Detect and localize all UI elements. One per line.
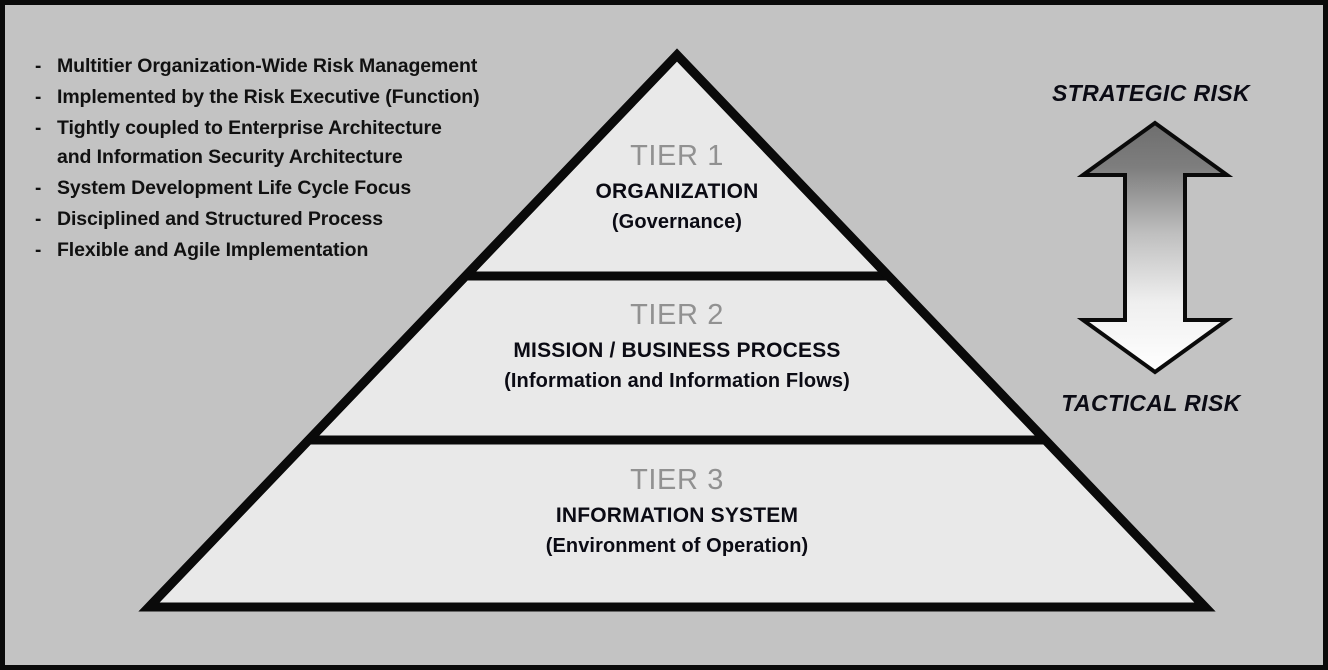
strategic-risk-label: STRATEGIC RISK [986, 80, 1316, 107]
risk-management-tier-diagram: - Multitier Organization-Wide Risk Manag… [0, 0, 1328, 670]
bullet-marker: - [35, 205, 57, 234]
list-item-label: Tightly coupled to Enterprise Architectu… [57, 114, 442, 172]
list-item-label: Multitier Organization-Wide Risk Managem… [57, 52, 477, 81]
tier-1-name: ORGANIZATION [417, 177, 937, 207]
list-item: - Flexible and Agile Implementation [35, 236, 595, 265]
tier-2-subtitle: (Information and Information Flows) [417, 366, 937, 396]
arrow-shape [1083, 123, 1227, 372]
tier-1-heading: TIER 1 [417, 138, 937, 174]
tier-3-labels: TIER 3 INFORMATION SYSTEM (Environment o… [417, 462, 937, 561]
tactical-risk-label: TACTICAL RISK [986, 390, 1316, 417]
tier-1-subtitle: (Governance) [417, 207, 937, 237]
tier-2-heading: TIER 2 [417, 297, 937, 333]
bullet-marker: - [35, 83, 57, 112]
list-item: - Implemented by the Risk Executive (Fun… [35, 83, 595, 112]
bullet-marker: - [35, 174, 57, 203]
tier-1-labels: TIER 1 ORGANIZATION (Governance) [417, 138, 937, 237]
bullet-marker: - [35, 114, 57, 143]
tier-3-name: INFORMATION SYSTEM [417, 501, 937, 531]
list-item: - Multitier Organization-Wide Risk Manag… [35, 52, 595, 81]
double-headed-vertical-arrow-icon [1055, 115, 1255, 380]
list-item-label: Flexible and Agile Implementation [57, 236, 368, 265]
tier-3-subtitle: (Environment of Operation) [417, 531, 937, 561]
list-item-label: System Development Life Cycle Focus [57, 174, 411, 203]
bullet-marker: - [35, 236, 57, 265]
list-item-label: Disciplined and Structured Process [57, 205, 383, 234]
bullet-marker: - [35, 52, 57, 81]
tier-2-name: MISSION / BUSINESS PROCESS [417, 336, 937, 366]
list-item-label: Implemented by the Risk Executive (Funct… [57, 83, 480, 112]
tier-3-heading: TIER 3 [417, 462, 937, 498]
tier-2-labels: TIER 2 MISSION / BUSINESS PROCESS (Infor… [417, 297, 937, 396]
